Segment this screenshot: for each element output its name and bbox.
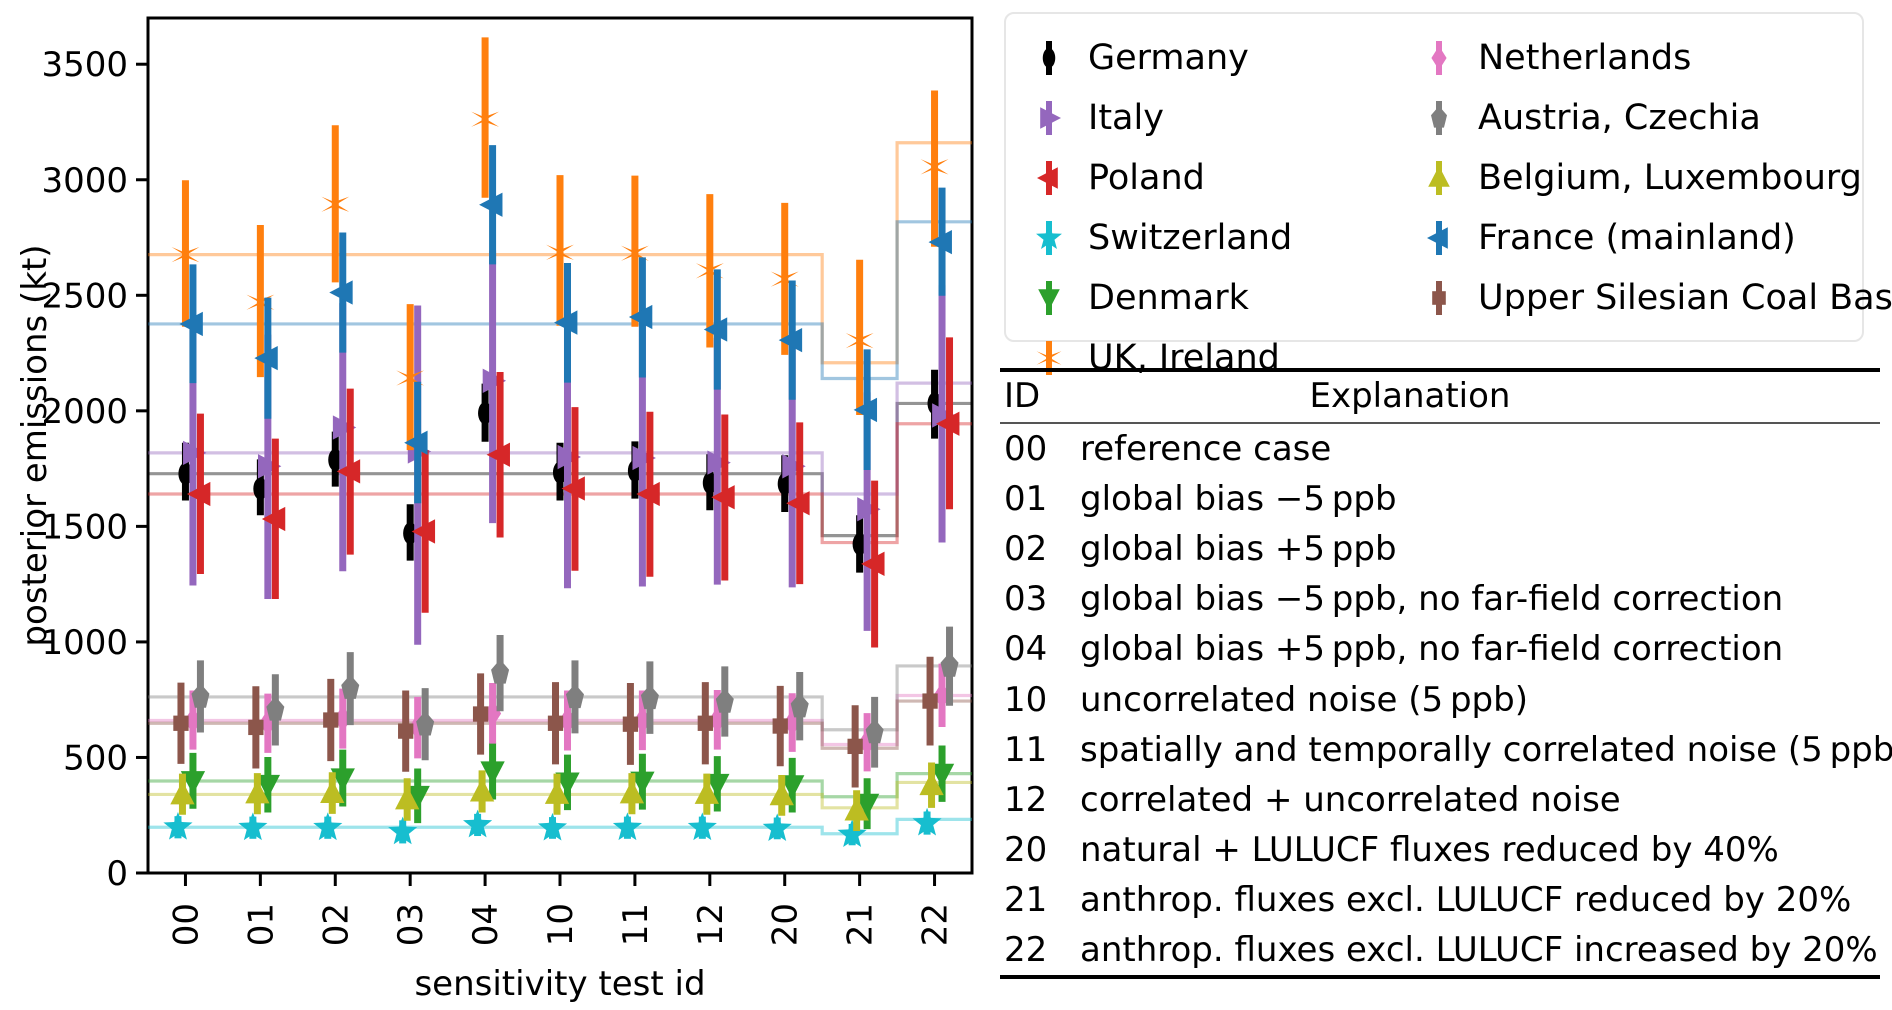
data-point [548,716,563,731]
x-tick-label: 12 [691,903,731,946]
row-explanation: anthrop. fluxes excl. LULUCF reduced by … [1080,880,1880,920]
y-tick-label: 500 [63,738,128,778]
triangle-down-icon [1032,275,1066,321]
table-row: 12correlated + uncorrelated noise [1000,775,1880,825]
y-tick-label: 3000 [41,161,128,201]
table-row: 03global bias −5 ppb, no far-field corre… [1000,574,1880,624]
table-row: 00reference case [1000,424,1880,474]
row-id: 03 [1004,579,1080,619]
row-id: 22 [1004,930,1080,970]
x-tick-label: 04 [466,903,506,946]
x-tick-label: 00 [166,903,206,946]
table-row: 20natural + LULUCF fluxes reduced by 40% [1000,825,1880,875]
triangle-right-icon [1032,95,1066,141]
data-point [191,683,209,707]
x-tick-label: 02 [316,903,356,946]
data-point [773,718,788,733]
legend-label: Poland [1088,158,1205,198]
legend-label: Switzerland [1088,218,1292,258]
data-point [173,716,188,731]
circle-icon [1032,35,1066,81]
series-legend: GermanyNetherlandsItalyAustria, CzechiaP… [1004,12,1864,342]
series-uk-ireland [172,37,949,450]
data-point [341,675,359,699]
legend-entry[interactable]: Italy [1032,95,1422,141]
legend-label: Austria, Czechia [1478,98,1761,138]
row-explanation: global bias +5 ppb, no far-field correct… [1080,629,1880,669]
data-point [491,659,509,683]
square-icon [1422,275,1456,321]
table-row: 22anthrop. fluxes excl. LULUCF increased… [1000,925,1880,975]
row-id: 00 [1004,429,1080,469]
y-tick-label: 3500 [41,45,128,85]
table-row: 01global bias −5 ppb [1000,474,1880,524]
row-explanation: uncorrelated noise (5 ppb) [1080,680,1880,720]
legend-entry[interactable]: Denmark [1032,275,1422,321]
data-point [698,716,713,731]
legend-label: France (mainland) [1478,218,1796,258]
row-explanation: anthrop. fluxes excl. LULUCF increased b… [1080,930,1880,970]
sensitivity-test-chart: 0500100015002000250030003500posterior em… [0,0,1000,1010]
data-point [473,706,488,721]
legend-label: Denmark [1088,278,1249,318]
row-explanation: correlated + uncorrelated noise [1080,780,1880,820]
series-poland [187,337,959,647]
table-row: 04global bias +5 ppb, no far-field corre… [1000,624,1880,674]
row-id: 12 [1004,780,1080,820]
table-row: 21anthrop. fluxes excl. LULUCF reduced b… [1000,875,1880,925]
x-tick-label: 10 [541,903,581,946]
legend-entry[interactable]: Poland [1032,155,1422,201]
table-row: 02global bias +5 ppb [1000,524,1880,574]
data-point [248,720,263,735]
row-id: 01 [1004,479,1080,519]
data-point [922,693,937,708]
x-tick-label: 21 [841,903,881,946]
pentagon-icon [1422,95,1456,141]
row-explanation: global bias −5 ppb [1080,479,1880,519]
data-point [847,739,862,754]
legend-entry[interactable]: France (mainland) [1422,215,1882,261]
legend-entry[interactable]: Germany [1032,35,1422,81]
row-explanation: natural + LULUCF fluxes reduced by 40% [1080,830,1880,870]
table-row: 10uncorrelated noise (5 ppb) [1000,675,1880,725]
x-tick-label: 11 [616,903,656,946]
row-explanation: global bias +5 ppb [1080,529,1880,569]
row-id: 21 [1004,880,1080,920]
y-axis-title: posterior emissions (kt) [15,244,55,646]
legend-label: Netherlands [1478,38,1691,78]
data-point [398,723,413,738]
row-id: 20 [1004,830,1080,870]
row-explanation: global bias −5 ppb, no far-field correct… [1080,579,1880,619]
data-point [623,717,638,732]
star-icon [1032,215,1066,261]
header-id: ID [1004,376,1080,416]
row-id: 10 [1004,680,1080,720]
legend-entry[interactable]: Upper Silesian Coal Basin [1422,275,1882,321]
x-tick-label: 03 [391,903,431,946]
legend-label: Germany [1088,38,1249,78]
data-point [641,685,659,709]
explanation-table: ID Explanation 00reference case01global … [1000,368,1880,979]
x-axis-title: sensitivity test id [414,964,705,1004]
diamond-icon [1422,35,1456,81]
legend-entry[interactable]: Belgium, Luxembourg [1422,155,1882,201]
row-explanation: reference case [1080,429,1880,469]
legend-entry[interactable]: Netherlands [1422,35,1882,81]
legend-entry[interactable]: Switzerland [1032,215,1422,261]
table-row: 11spatially and temporally correlated no… [1000,725,1880,775]
triangle-left-icon [1032,155,1066,201]
table-bottom-rule [1000,975,1880,979]
legend-label: Italy [1088,98,1164,138]
header-explanation: Explanation [1080,376,1880,416]
legend-label: Upper Silesian Coal Basin [1478,278,1892,318]
y-tick-label: 0 [106,854,128,894]
triangle-left-icon [1422,215,1456,261]
data-point [566,684,584,708]
x-tick-label: 22 [916,903,956,946]
series-denmark [181,743,954,829]
row-explanation: spatially and temporally correlated nois… [1080,730,1892,770]
row-id: 04 [1004,629,1080,669]
legend-entry[interactable]: Austria, Czechia [1422,95,1882,141]
legend-label: Belgium, Luxembourg [1478,158,1862,198]
plot-content [148,37,972,847]
table-header-row: ID Explanation [1000,372,1880,422]
x-tick-label: 01 [241,903,281,946]
data-point [323,712,338,727]
x-tick-label: 20 [766,903,806,946]
row-id: 11 [1004,730,1080,770]
data-point [941,652,959,676]
triangle-up-icon [1422,155,1456,201]
row-id: 02 [1004,529,1080,569]
